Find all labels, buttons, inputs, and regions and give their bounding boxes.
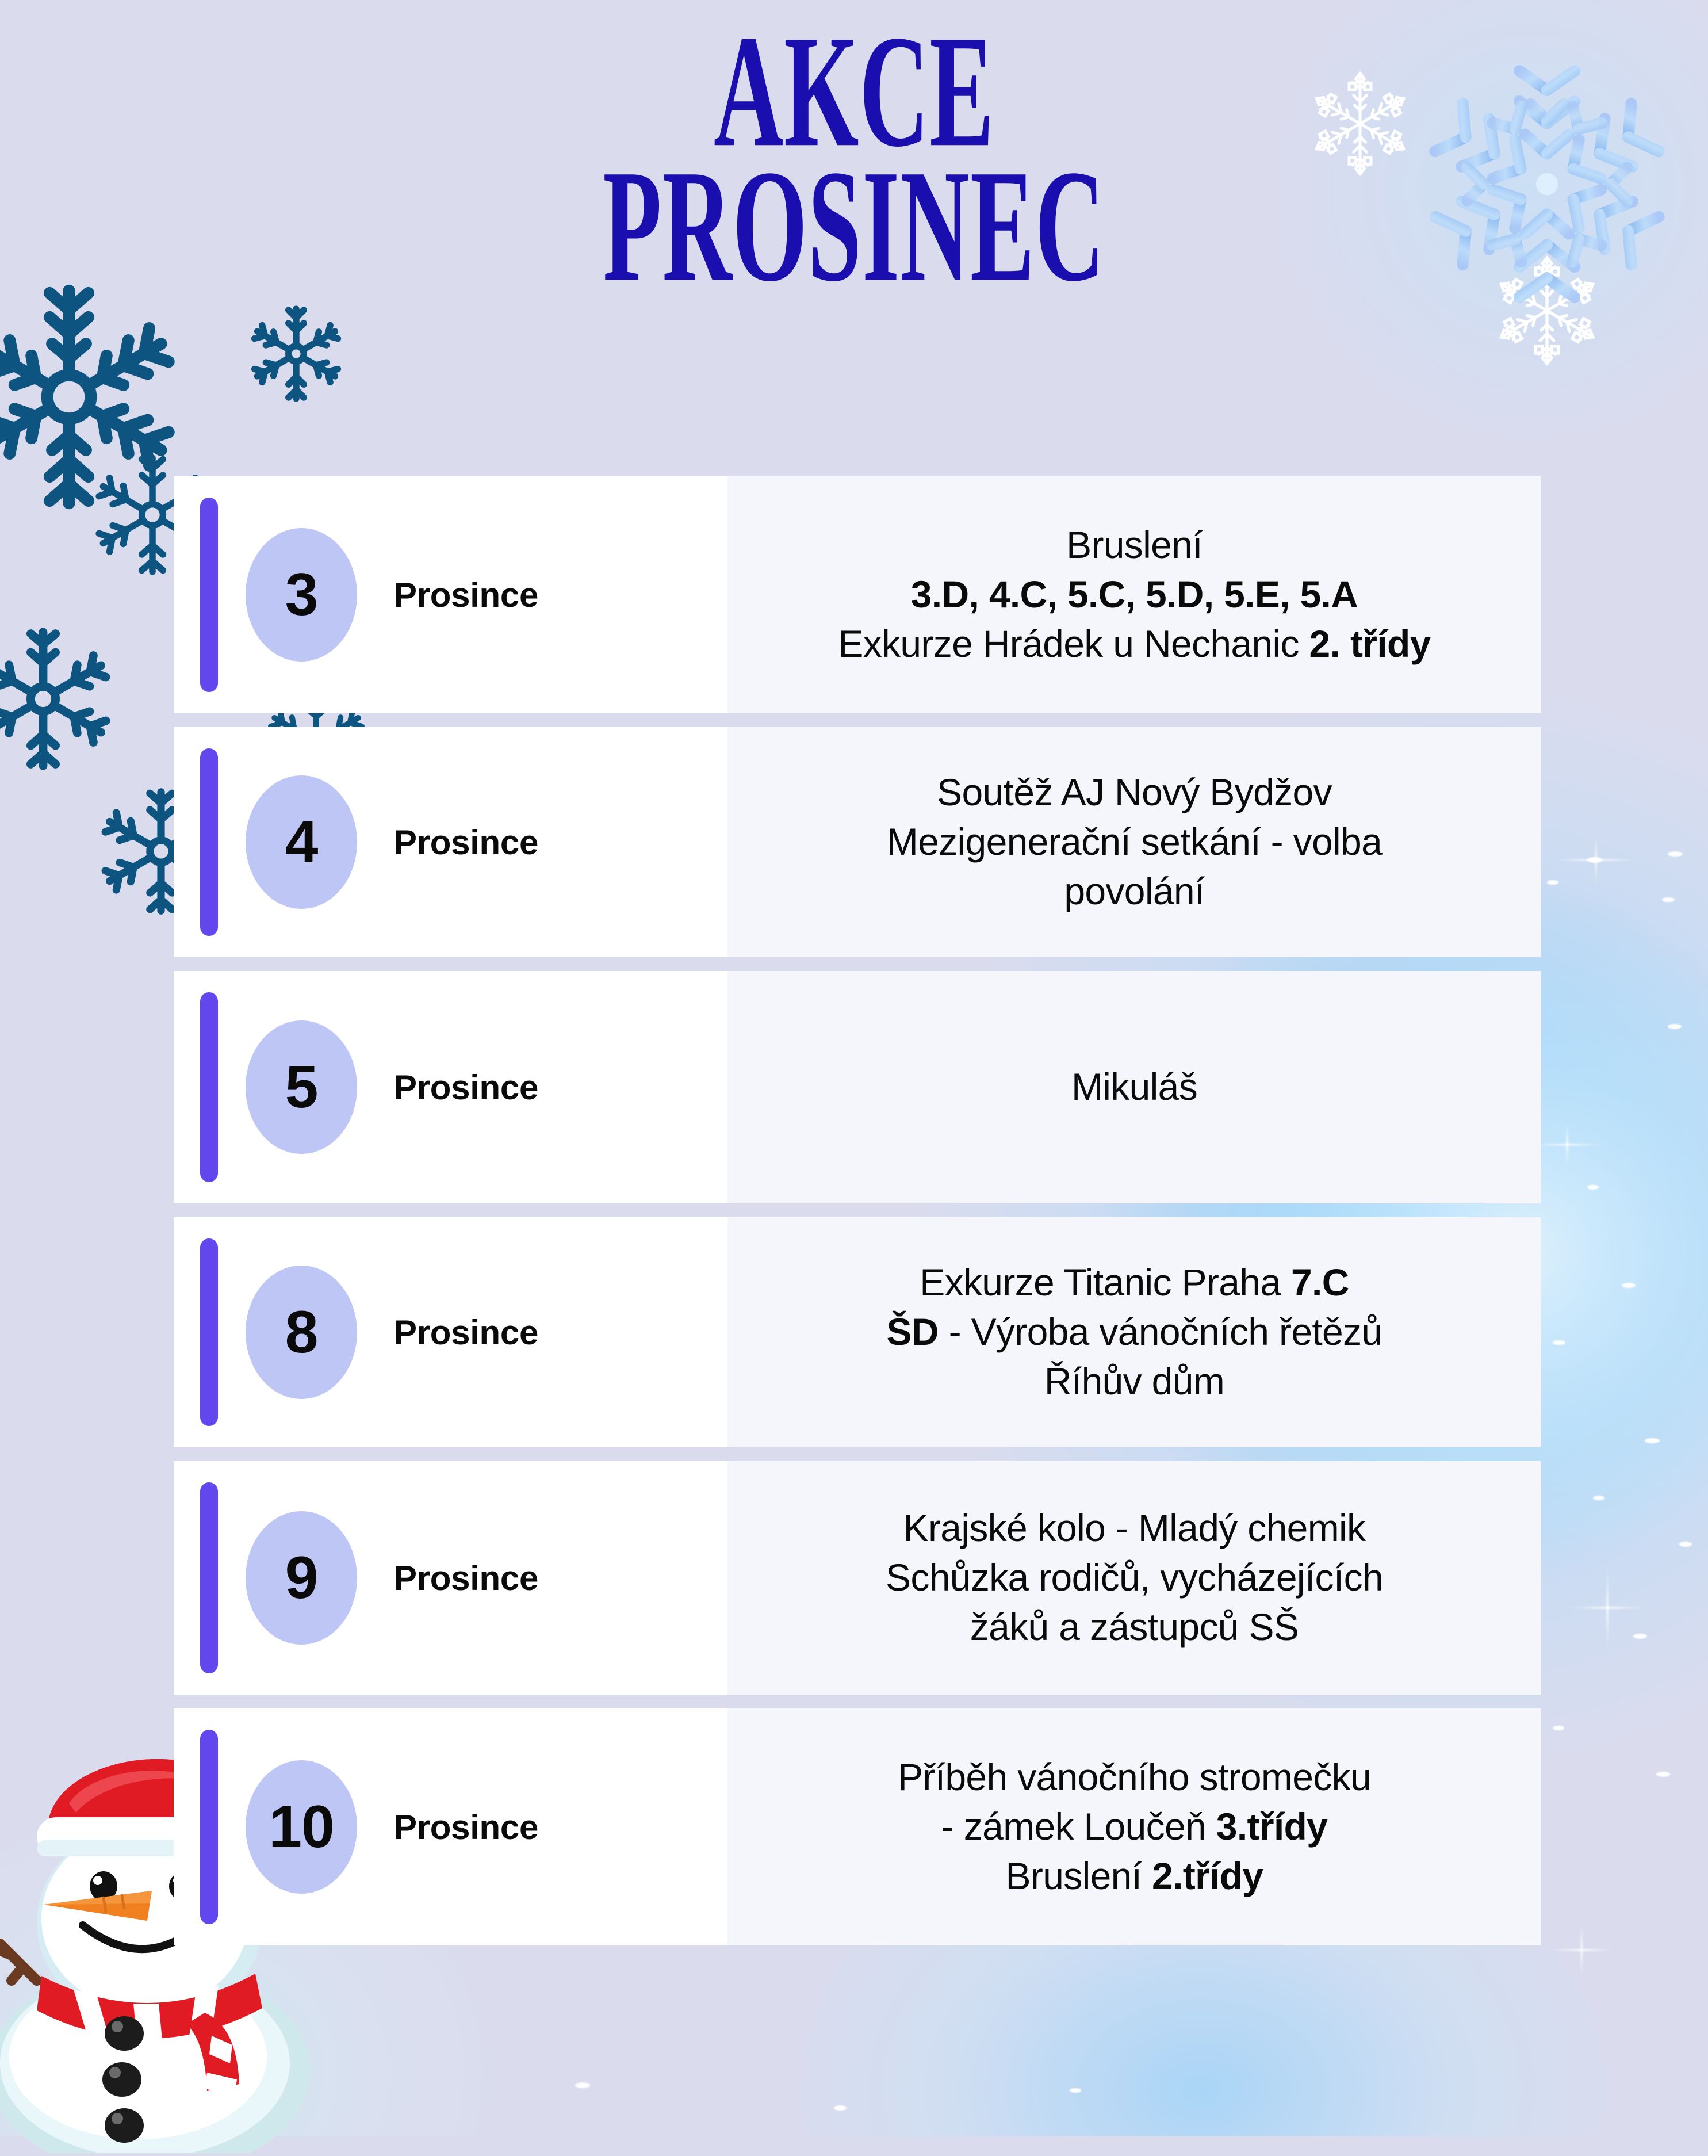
event-description-panel: Krajské kolo - Mladý chemikSchůzka rodič… [727,1461,1541,1695]
snowman-arm [0,1944,37,1981]
sparkle-star [1564,1565,1650,1651]
event-text: Exkurze Titanic Praha [920,1261,1291,1303]
event-text: Soutěž AJ Nový Bydžov [937,771,1332,813]
event-description-panel: Příběh vánočního stromečku- zámek Loučeň… [727,1708,1541,1945]
event-card[interactable]: 5ProsinceMikuláš [174,971,1541,1203]
accent-bar [200,1482,218,1673]
event-text: Krajské kolo - Mladý chemik [903,1507,1366,1549]
event-line: Schůzka rodičů, vycházejících [886,1553,1383,1603]
event-line: Soutěž AJ Nový Bydžov [937,768,1332,817]
event-line: Bruslení [1066,521,1203,570]
event-text: Schůzka rodičů, vycházejících [886,1556,1383,1599]
event-line: 3.D, 4.C, 5.C, 5.D, 5.E, 5.A [911,570,1358,620]
day-number: 4 [285,812,318,872]
day-circle: 5 [246,1020,357,1154]
event-text: Bruslení [1006,1855,1152,1897]
event-line: Mikuláš [1071,1062,1197,1112]
month-label: Prosince [394,823,538,862]
title-line-prosinec: PROSINEC [188,152,1521,300]
event-text-bold: 2.třídy [1152,1855,1263,1897]
event-date-panel: 4Prosince [174,727,727,957]
event-date-panel: 3Prosince [174,476,727,713]
event-card[interactable]: 10ProsincePříběh vánočního stromečku- zá… [174,1708,1541,1945]
event-description-panel: Soutěž AJ Nový BydžovMezigenerační setká… [727,727,1541,957]
event-text-bold: 2. třídy [1309,622,1431,665]
day-number: 10 [269,1797,334,1857]
event-line: Bruslení 2.třídy [1006,1852,1263,1901]
event-card[interactable]: 4ProsinceSoutěž AJ Nový BydžovMezigenera… [174,727,1541,957]
sparkle-dot [1668,1024,1682,1029]
month-label: Prosince [394,1558,538,1598]
event-description-panel: Bruslení3.D, 4.C, 5.C, 5.D, 5.E, 5.AExku… [727,476,1541,713]
event-card[interactable]: 3ProsinceBruslení3.D, 4.C, 5.C, 5.D, 5.E… [174,476,1541,713]
accent-bar [200,1238,218,1426]
sparkle-dot [1668,851,1683,857]
accent-bar [200,748,218,936]
sparkle-dot [1070,2088,1081,2093]
event-date-panel: 8Prosince [174,1217,727,1447]
sparkle-dot [1656,1772,1670,1777]
sparkle-dot [1679,1542,1692,1547]
sparkle-dot [1547,880,1558,885]
day-number: 5 [285,1057,318,1117]
month-label: Prosince [394,1807,538,1847]
day-number: 3 [285,565,318,625]
event-line: Exkurze Titanic Praha 7.C [920,1258,1349,1308]
event-text-bold: 3.D, 4.C, 5.C, 5.D, 5.E, 5.A [911,573,1358,616]
event-date-panel: 9Prosince [174,1461,727,1695]
event-list: 3ProsinceBruslení3.D, 4.C, 5.C, 5.D, 5.E… [174,476,1541,1959]
event-text: - zámek Loučeň [941,1805,1216,1848]
event-card[interactable]: 9ProsinceKrajské kolo - Mladý chemikSchů… [174,1461,1541,1695]
sparkle-dot [1645,1438,1660,1443]
event-line: Mezigenerační setkání - volba [887,817,1382,867]
sparkle-dot [1633,1634,1647,1639]
event-line: Říhův dům [1044,1357,1224,1406]
day-circle: 8 [246,1266,357,1399]
event-text: povolání [1064,870,1204,912]
sparkle-dot [575,2082,590,2088]
event-line: Exkurze Hrádek u Nechanic 2. třídy [838,620,1430,669]
poster-title: AKCE PROSINEC [0,17,1708,266]
month-label: Prosince [394,575,538,615]
event-text: Exkurze Hrádek u Nechanic [838,622,1309,665]
event-description-panel: Exkurze Titanic Praha 7.CŠD - Výroba ván… [727,1217,1541,1447]
sparkle-dot [1553,1340,1565,1345]
day-number: 8 [285,1302,318,1362]
event-text-bold: 7.C [1291,1261,1349,1303]
event-card[interactable]: 8ProsinceExkurze Titanic Praha 7.CŠD - V… [174,1217,1541,1447]
sparkle-dot [834,2105,847,2111]
day-circle: 4 [246,775,357,909]
event-line: Krajské kolo - Mladý chemik [903,1504,1366,1553]
snowflake-icon [0,621,121,777]
event-text: Bruslení [1066,523,1203,566]
day-number: 9 [285,1548,318,1608]
event-text: Říhův dům [1044,1360,1224,1402]
snowflake-icon [242,299,351,408]
snowman-button [105,2016,144,2051]
snowflake-icon [0,276,190,518]
event-line: žáků a zástupců SŠ [970,1603,1299,1652]
day-circle: 9 [246,1511,357,1645]
event-text: - Výroba vánočních řetězů [939,1310,1383,1353]
sparkle-dot [1587,857,1602,863]
accent-bar [200,1730,218,1924]
event-text-bold: 3.třídy [1216,1805,1327,1848]
event-date-panel: 5Prosince [174,971,727,1203]
event-text-bold: ŠD [887,1310,939,1353]
event-line: - zámek Loučeň 3.třídy [941,1802,1327,1852]
snowman-button [105,2108,144,2143]
month-label: Prosince [394,1068,538,1107]
day-circle: 10 [246,1760,357,1894]
event-date-panel: 10Prosince [174,1708,727,1945]
accent-bar [200,992,218,1182]
event-text: Mezigenerační setkání - volba [887,820,1382,863]
sparkle-star [1547,1921,1616,1979]
sparkle-star [1553,834,1639,886]
day-circle: 3 [246,528,357,662]
event-line: ŠD - Výroba vánočních řetězů [887,1308,1383,1357]
sparkle-dot [1593,1496,1604,1500]
sparkle-dot [1553,1726,1564,1730]
sparkle-dot [1662,897,1675,902]
sparkle-dot [1587,1185,1599,1190]
month-label: Prosince [394,1313,538,1352]
snowman-button [102,2062,141,2097]
event-text: Příběh vánočního stromečku [898,1756,1371,1798]
event-text: Mikuláš [1071,1065,1197,1108]
sparkle-dot [1622,1283,1636,1288]
event-text: žáků a zástupců SŠ [970,1605,1299,1648]
event-description-panel: Mikuláš [727,971,1541,1203]
event-line: Příběh vánočního stromečku [898,1753,1371,1802]
accent-bar [200,498,218,692]
event-line: povolání [1064,867,1204,916]
